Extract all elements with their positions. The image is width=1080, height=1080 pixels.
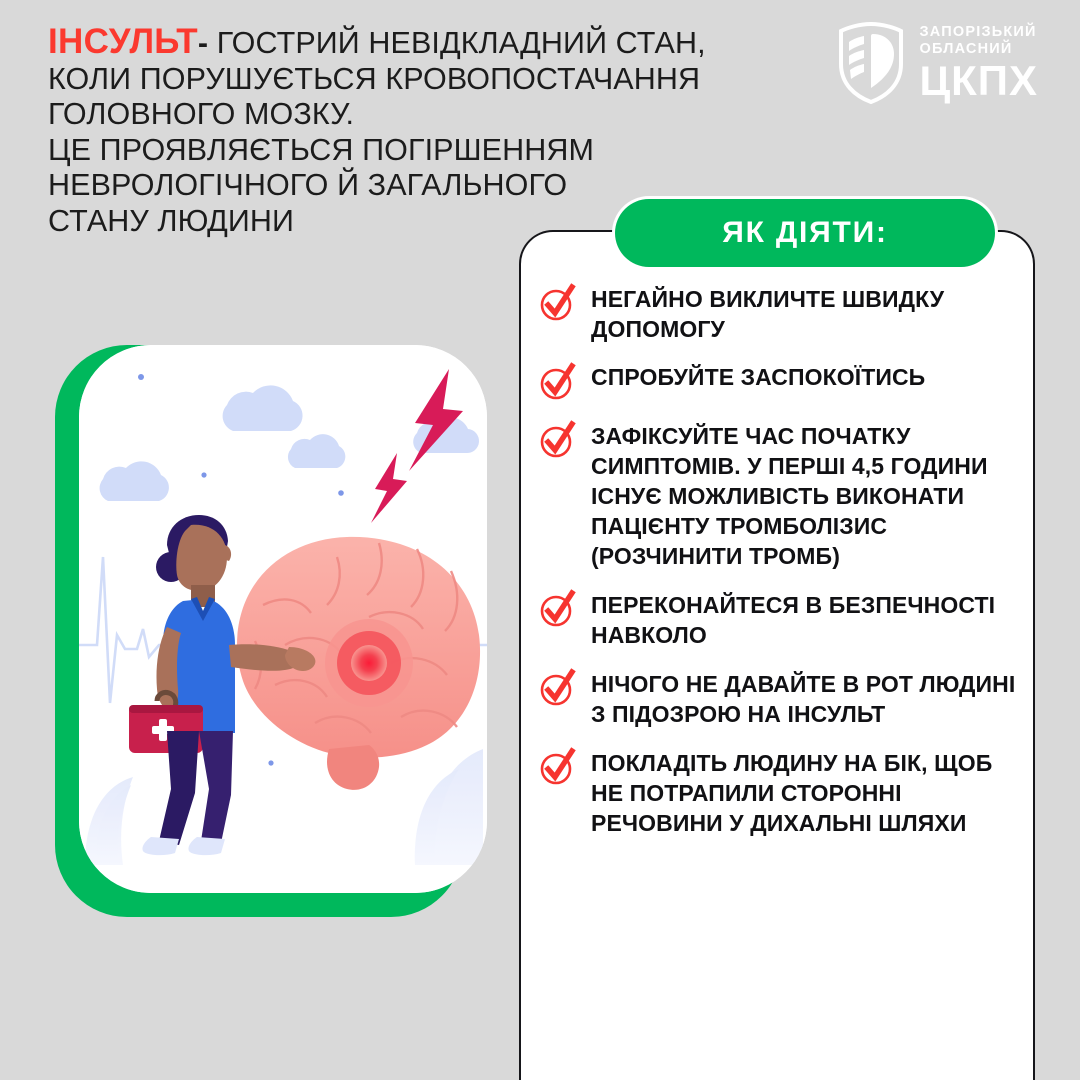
list-item-label: ПОКЛАДІТЬ ЛЮДИНУ НА БІК, ЩОБ НЕ ПОТРАПИЛ… bbox=[591, 746, 1017, 838]
list-item-label: ЗАФІКСУЙТЕ ЧАС ПОЧАТКУ СИМПТОМІВ. У ПЕРШ… bbox=[591, 419, 1017, 571]
list-item-label: ПЕРЕКОНАЙТЕСЯ В БЕЗПЕЧНОСТІ НАВКОЛО bbox=[591, 588, 1017, 650]
logo-abbreviation: ЦКПХ bbox=[919, 60, 1038, 102]
list-item[interactable]: ЗАФІКСУЙТЕ ЧАС ПОЧАТКУ СИМПТОМІВ. У ПЕРШ… bbox=[537, 419, 1017, 571]
list-item-label: НЕГАЙНО ВИКЛИЧТЕ ШВИДКУ ДОПОМОГУ bbox=[591, 282, 1017, 344]
list-item[interactable]: НІЧОГО НЕ ДАВАЙТЕ В РОТ ЛЮДИНІ З ПІДОЗРО… bbox=[537, 667, 1017, 729]
list-item-label: НІЧОГО НЕ ДАВАЙТЕ В РОТ ЛЮДИНІ З ПІДОЗРО… bbox=[591, 667, 1017, 729]
logo-text-block: ЗАПОРІЗЬКИЙ ОБЛАСНИЙ ЦКПХ bbox=[919, 25, 1038, 102]
panel-title-badge: ЯК ДІЯТИ: bbox=[615, 199, 995, 267]
pain-spot bbox=[325, 619, 413, 707]
infographic-poster: ІНСУЛЬТ- ГОСТРИЙ НЕВІДКЛАДНИЙ СТАН, КОЛИ… bbox=[0, 0, 1080, 1080]
list-item[interactable]: СПРОБУЙТЕ ЗАСПОКОЇТИСЬ bbox=[537, 361, 1017, 402]
headline-line3: ГОЛОВНОГО МОЗКУ. bbox=[48, 97, 354, 131]
list-item[interactable]: ПЕРЕКОНАЙТЕСЯ В БЕЗПЕЧНОСТІ НАВКОЛО bbox=[537, 588, 1017, 650]
logo-line-2: ОБЛАСНИЙ bbox=[919, 42, 1038, 57]
shield-logo-icon bbox=[837, 22, 905, 104]
list-item[interactable]: ПОКЛАДІТЬ ЛЮДИНУ НА БІК, ЩОБ НЕ ПОТРАПИЛ… bbox=[537, 746, 1017, 838]
list-item[interactable]: НЕГАЙНО ВИКЛИЧТЕ ШВИДКУ ДОПОМОГУ bbox=[537, 282, 1017, 344]
headline-line5: НЕВРОЛОГІЧНОГО Й ЗАГАЛЬНОГО bbox=[48, 168, 567, 202]
organization-logo: ЗАПОРІЗЬКИЙ ОБЛАСНИЙ ЦКПХ bbox=[837, 22, 1038, 104]
check-circle-icon bbox=[537, 362, 577, 402]
checklist: НЕГАЙНО ВИКЛИЧТЕ ШВИДКУ ДОПОМОГУ СПРОБУЙ… bbox=[519, 282, 1035, 855]
check-circle-icon bbox=[537, 747, 577, 787]
illustration-white-card bbox=[79, 345, 487, 893]
list-item-label: СПРОБУЙТЕ ЗАСПОКОЇТИСЬ bbox=[591, 361, 925, 392]
check-circle-icon bbox=[537, 589, 577, 629]
headline-line1: ГОСТРИЙ НЕВІДКЛАДНИЙ СТАН, bbox=[217, 26, 706, 60]
headline-line6: СТАНУ ЛЮДИНИ bbox=[48, 204, 294, 238]
check-circle-icon bbox=[537, 668, 577, 708]
headline-line4: ЦЕ ПРОЯВЛЯЄТЬСЯ ПОГІРШЕННЯМ bbox=[48, 133, 594, 167]
illustration-container bbox=[55, 345, 487, 917]
headline-dash: - bbox=[198, 26, 208, 60]
doctor-and-brain-illustration bbox=[79, 345, 487, 893]
keyword-insult: ІНСУЛЬТ bbox=[48, 22, 198, 61]
headline-line2: КОЛИ ПОРУШУЄТЬСЯ КРОВОПОСТАЧАННЯ bbox=[48, 62, 700, 96]
panel-title-label: ЯК ДІЯТИ: bbox=[722, 216, 888, 250]
check-circle-icon bbox=[537, 420, 577, 460]
logo-line-1: ЗАПОРІЗЬКИЙ bbox=[919, 25, 1038, 40]
check-circle-icon bbox=[537, 283, 577, 323]
